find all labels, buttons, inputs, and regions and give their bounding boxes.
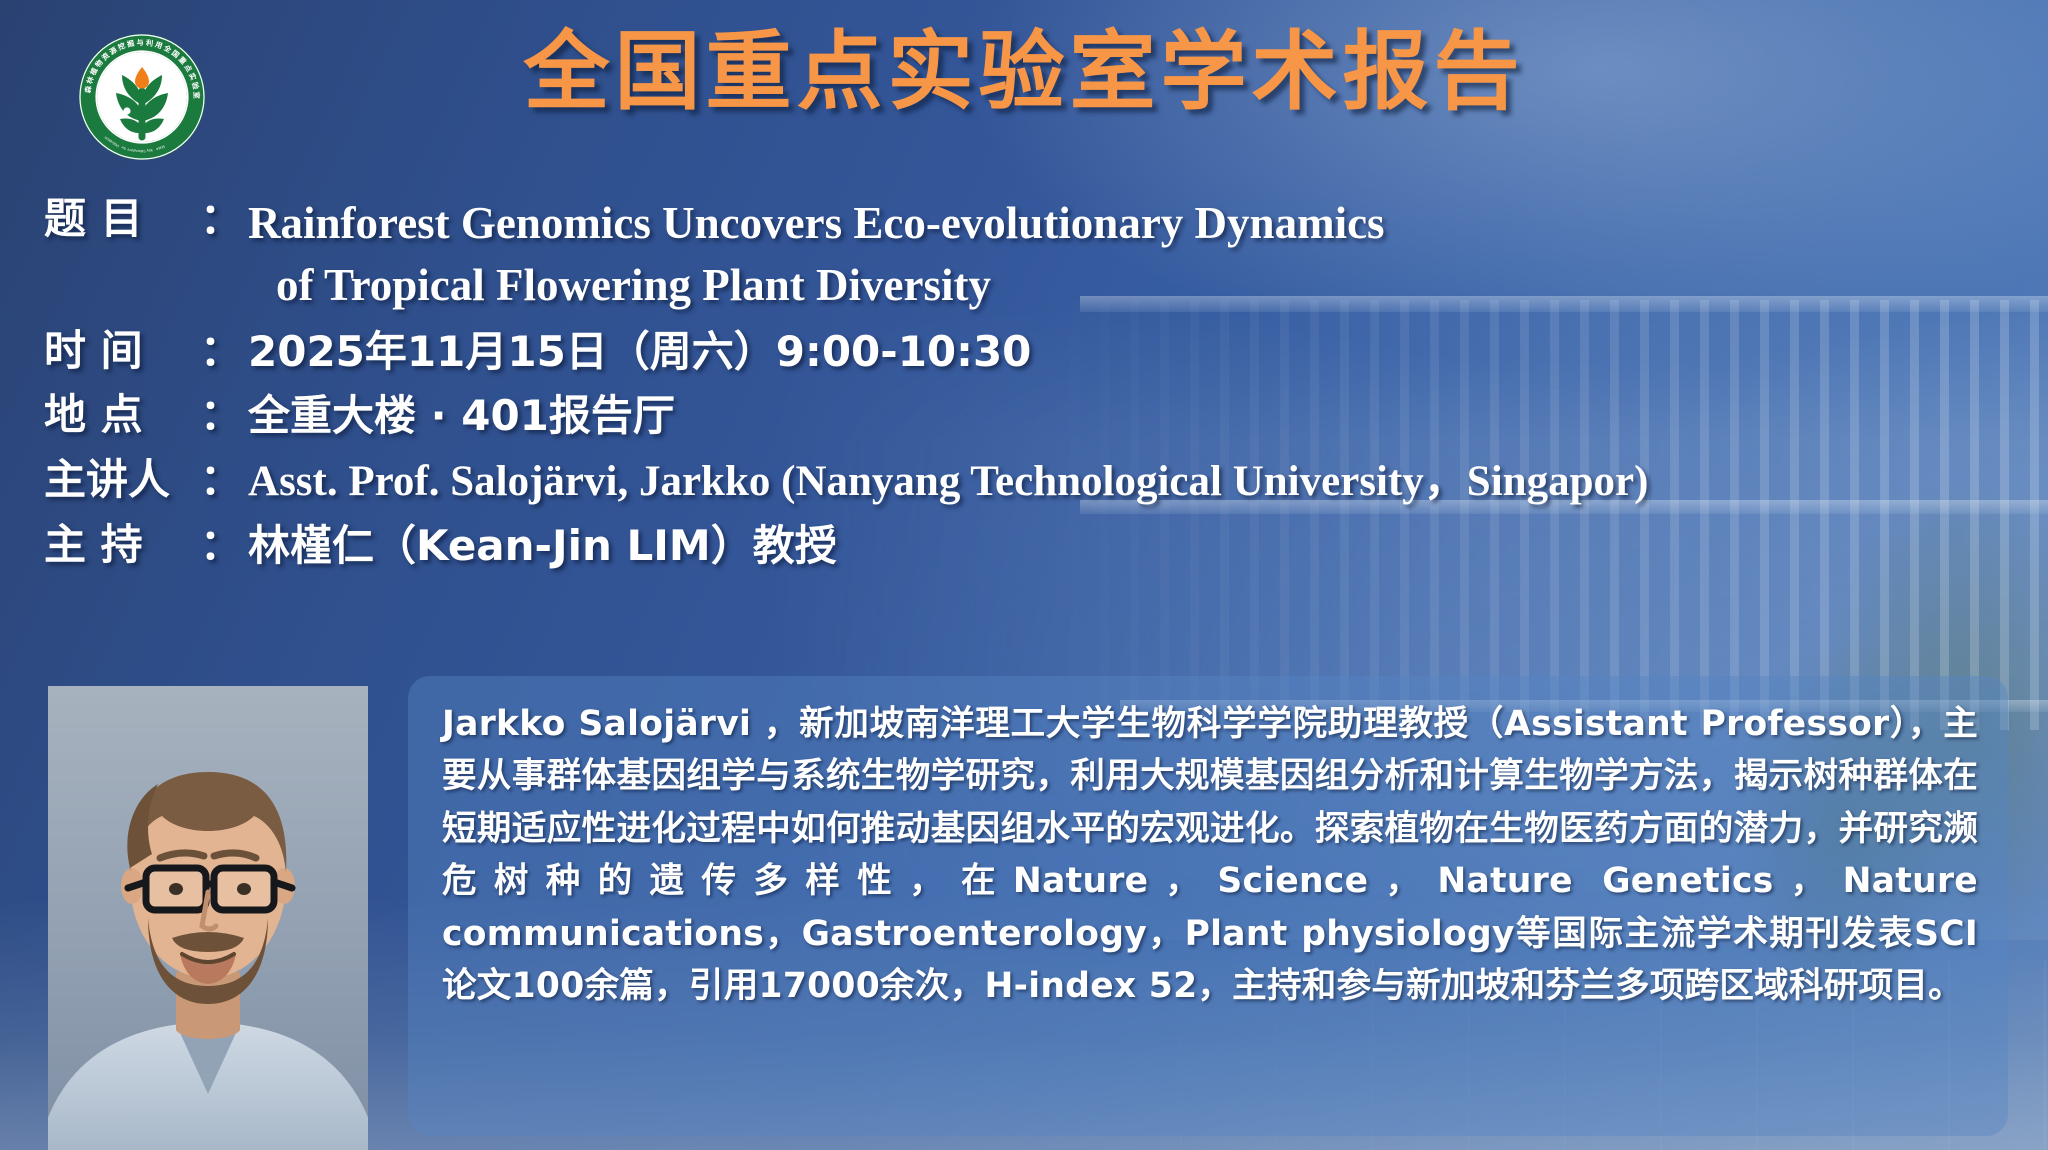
info-colon-host: ： [200,518,242,573]
speaker-bio-panel: Jarkko Salojärvi ，新加坡南洋理工大学生物科学学院助理教授（As… [408,676,2008,1136]
info-value-topic: Rainforest Genomics Uncovers Eco-evoluti… [248,192,2034,316]
info-colon-time: ： [200,324,242,379]
svg-text:Key: Key [146,148,153,153]
poster-info-block: 题 目 ： Rainforest Genomics Uncovers Eco-e… [44,192,2034,583]
info-label-host: 主 持 [44,518,200,573]
info-colon-topic: ： [200,192,242,247]
info-row-topic: 题 目 ： Rainforest Genomics Uncovers Eco-e… [44,192,2034,316]
info-colon-speaker: ： [200,453,242,508]
topic-line-1: Rainforest Genomics Uncovers Eco-evoluti… [248,198,1385,248]
topic-line-2: of Tropical Flowering Plant Diversity [248,254,2034,316]
info-label-topic: 题 目 [44,192,200,247]
info-label-location: 地 点 [44,388,200,443]
info-value-host: 林槿仁（Kean-Jin LIM）教授 [248,518,2034,574]
poster-main-title: 全国重点实验室学术报告 [0,22,2048,123]
info-row-speaker: 主讲人 ： Asst. Prof. Salojärvi, Jarkko (Nan… [44,453,2034,511]
seminar-poster: 森 林 植 物 资 源 挖 掘 与 利 用 全 国 重 点 实 验 室 Stat… [0,0,2048,1150]
info-value-location: 全重大楼 · 401报告厅 [248,388,2034,444]
info-row-time: 时 间 ： 2025年11月15日（周六）9:00-10:30 [44,324,2034,380]
info-colon-location: ： [200,388,242,443]
info-row-location: 地 点 ： 全重大楼 · 401报告厅 [44,388,2034,444]
speaker-portrait [48,686,368,1150]
info-label-time: 时 间 [44,324,200,379]
info-value-speaker: Asst. Prof. Salojärvi, Jarkko (Nanyang T… [248,453,2034,511]
info-row-host: 主 持 ： 林槿仁（Kean-Jin LIM）教授 [44,518,2034,574]
info-value-time: 2025年11月15日（周六）9:00-10:30 [248,324,2034,380]
info-label-speaker: 主讲人 [44,453,200,508]
